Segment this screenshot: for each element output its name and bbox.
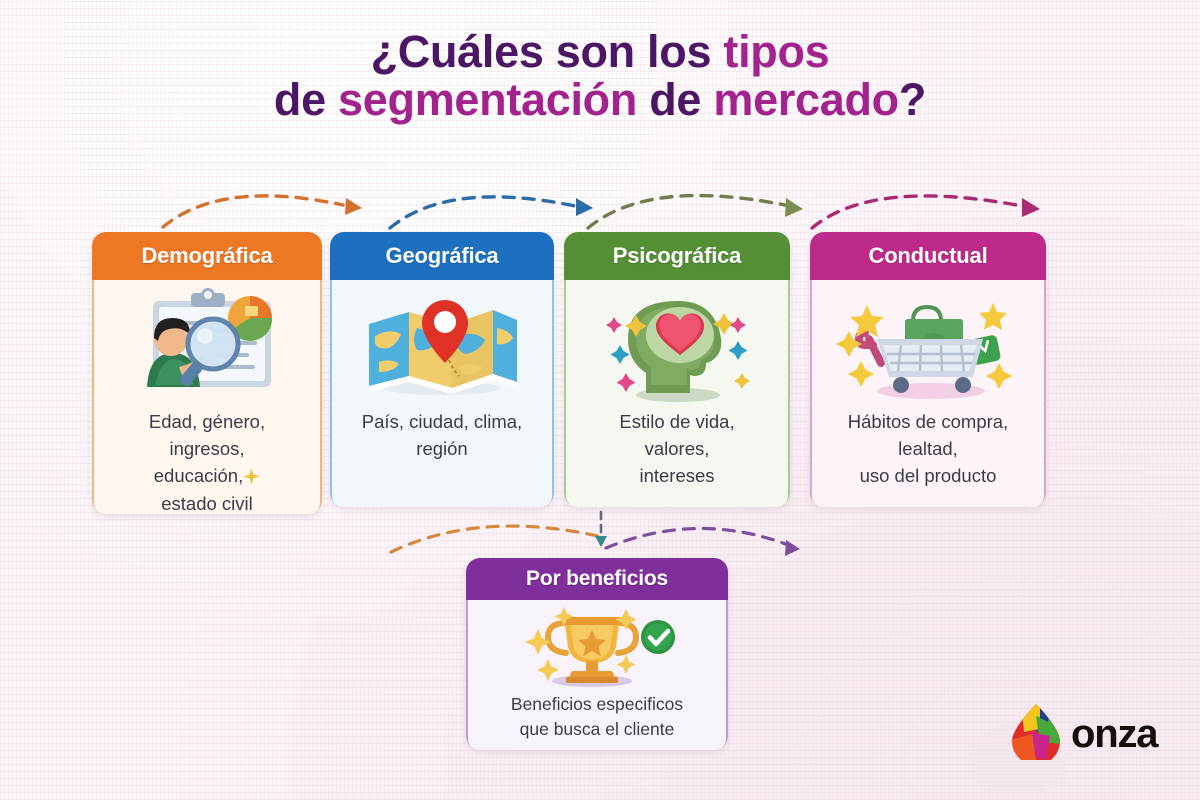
card-beneficios-header: Por beneficios xyxy=(466,558,728,600)
card-beneficios-text: Beneficios especificos que busca el clie… xyxy=(468,692,726,743)
folded-map-pin-icon xyxy=(332,280,552,408)
card-demografica-header: Demográfica xyxy=(92,232,322,280)
card-geografica-line-2: región xyxy=(416,438,467,459)
card-geografica-body: País, ciudad, clima, región xyxy=(330,280,554,507)
card-beneficios-title: Por beneficios xyxy=(526,567,668,591)
title-line-2-plain-2: de xyxy=(637,74,713,125)
card-psicografica-line-2: valores, xyxy=(645,438,710,459)
card-psicografica-title: Psicográfica xyxy=(613,243,741,269)
card-conductual-line-1: Hábitos de compra, xyxy=(848,411,1008,432)
title-line-1-plain: ¿Cuáles son los xyxy=(371,26,724,77)
card-demografica-line-2: ingresos, xyxy=(169,438,244,459)
shopping-cart-bag-icon xyxy=(812,280,1044,408)
card-demografica-line-1: Edad, género, xyxy=(149,411,265,432)
title-line-1: ¿Cuáles son los tipos xyxy=(0,28,1200,76)
card-demografica[interactable]: Demográfica xyxy=(92,232,322,514)
sparkle-icon xyxy=(243,465,260,486)
card-beneficios-line-1: Beneficios especificos xyxy=(511,694,683,714)
arrow-demografica-to-geografica xyxy=(163,196,362,227)
card-geografica-header: Geográfica xyxy=(330,232,554,280)
card-geografica-text: País, ciudad, clima, región xyxy=(332,408,552,462)
card-psicografica-line-1: Estilo de vida, xyxy=(619,411,734,432)
card-demografica-line-4: estado civil xyxy=(161,493,253,514)
card-beneficios-body: Beneficios especificos que busca el clie… xyxy=(466,600,728,750)
card-conductual[interactable]: Conductual xyxy=(810,232,1046,507)
arrow-geografica-to-psicografica xyxy=(390,197,593,228)
title-line-2-question: ? xyxy=(899,74,926,125)
card-psicografica-text: Estilo de vida, valores, intereses xyxy=(566,408,788,490)
card-conductual-line-2: lealtad, xyxy=(898,438,958,459)
title-line-2-accent-1: segmentación xyxy=(338,74,637,125)
card-geografica-title: Geográfica xyxy=(386,243,499,269)
card-beneficios[interactable]: Por beneficios xyxy=(466,558,728,750)
arrow-psicografica-down xyxy=(595,512,607,547)
card-demografica-title: Demográfica xyxy=(141,243,272,269)
arrow-lower-right xyxy=(606,528,800,556)
card-geografica-line-1: País, ciudad, clima, xyxy=(362,411,522,432)
title-line-2-plain-1: de xyxy=(274,74,338,125)
clipboard-magnifier-person-icon xyxy=(94,280,320,408)
title-line-2-accent-2: mercado xyxy=(713,74,898,125)
card-conductual-header: Conductual xyxy=(810,232,1046,280)
card-demografica-body: Edad, género, ingresos, educación, estad… xyxy=(92,280,322,514)
card-conductual-text: Hábitos de compra, lealtad, uso del prod… xyxy=(812,408,1044,490)
head-brain-heart-icon xyxy=(566,280,788,408)
card-beneficios-line-2: que busca el cliente xyxy=(520,719,675,739)
card-conductual-title: Conductual xyxy=(869,243,988,269)
droplet-logo-icon xyxy=(1010,702,1062,765)
card-geografica[interactable]: Geográfica xyxy=(330,232,554,507)
onza-logo: onza xyxy=(1010,702,1157,765)
card-psicografica-header: Psicográfica xyxy=(564,232,790,280)
logo-wordmark: onza xyxy=(1071,714,1157,754)
title-line-2: de segmentación de mercado? xyxy=(0,76,1200,124)
card-psicografica-body: Estilo de vida, valores, intereses xyxy=(564,280,790,507)
card-conductual-body: Hábitos de compra, lealtad, uso del prod… xyxy=(810,280,1046,507)
arrow-psicografica-to-conductual xyxy=(588,196,803,228)
card-demografica-text: Edad, género, ingresos, educación, estad… xyxy=(94,408,320,514)
arrow-lower-left xyxy=(391,526,598,552)
card-demografica-line-3: educación, xyxy=(154,465,243,486)
arrow-conductual-outbound xyxy=(812,196,1040,228)
card-psicografica[interactable]: Psicográfica xyxy=(564,232,790,507)
card-conductual-line-3: uso del producto xyxy=(860,465,997,486)
title-line-1-accent: tipos xyxy=(723,26,829,77)
card-psicografica-line-3: intereses xyxy=(639,465,714,486)
page-title: ¿Cuáles son los tipos de segmentación de… xyxy=(0,28,1200,123)
trophy-check-icon xyxy=(468,600,726,692)
